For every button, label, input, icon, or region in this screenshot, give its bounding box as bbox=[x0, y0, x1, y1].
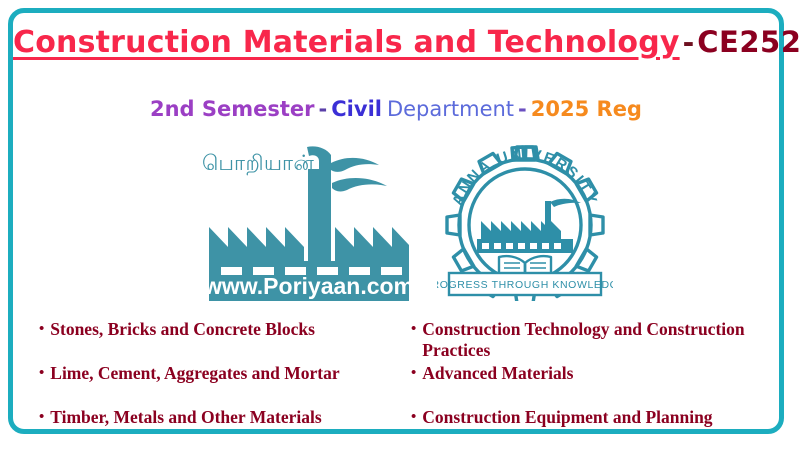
title-separator: - bbox=[680, 26, 698, 59]
unit-item: • Advanced Materials bbox=[411, 363, 573, 384]
course-title: Construction Materials and Technology bbox=[13, 25, 680, 60]
bullet-icon: • bbox=[39, 319, 44, 340]
bullet-icon: • bbox=[411, 407, 416, 428]
unit-label: Stones, Bricks and Concrete Blocks bbox=[50, 319, 315, 340]
unit-label: Lime, Cement, Aggregates and Mortar bbox=[50, 363, 339, 384]
anna-university-seal: ANNA UNIVERSITY bbox=[437, 143, 613, 301]
unit-label: Construction Equipment and Planning bbox=[422, 407, 712, 428]
unit-item: • Construction Equipment and Planning bbox=[411, 407, 713, 428]
seal-arc-text: ANNA UNIVERSITY bbox=[449, 146, 601, 208]
unit-label: Advanced Materials bbox=[422, 363, 573, 384]
seal-motto-text: PROGRESS THROUGH KNOWLEDGE bbox=[437, 279, 613, 291]
unit-item: • Timber, Metals and Other Materials bbox=[39, 407, 322, 428]
subtitle-dash-1: - bbox=[315, 97, 332, 121]
poster-card: Construction Materials and Technology-CE… bbox=[8, 8, 784, 434]
page-title: Construction Materials and Technology-CE… bbox=[13, 25, 779, 60]
unit-label: Timber, Metals and Other Materials bbox=[50, 407, 321, 428]
department-label: Department bbox=[382, 97, 514, 121]
unit-item: • Construction Technology and Constructi… bbox=[411, 319, 777, 361]
bullet-icon: • bbox=[411, 319, 416, 340]
course-code: CE25201 bbox=[697, 25, 800, 59]
subtitle: 2nd Semester-CivilDepartment-2025 Reg bbox=[13, 97, 779, 121]
subtitle-dash-2: - bbox=[514, 97, 531, 121]
semester-label: 2nd Semester bbox=[150, 97, 315, 121]
poriyaan-website-text: www.Poriyaan.com bbox=[203, 273, 414, 299]
bullet-icon: • bbox=[39, 407, 44, 428]
bullet-icon: • bbox=[411, 363, 416, 384]
unit-item: • Stones, Bricks and Concrete Blocks bbox=[39, 319, 315, 340]
unit-label: Construction Technology and Construction… bbox=[422, 319, 777, 361]
unit-item: • Lime, Cement, Aggregates and Mortar bbox=[39, 363, 340, 384]
regulation-label: 2025 Reg bbox=[531, 97, 642, 121]
bullet-icon: • bbox=[39, 363, 44, 384]
poriyaan-logo: www.Poriyaan.com பொறியான் bbox=[195, 139, 423, 303]
branch-label: Civil bbox=[331, 97, 382, 121]
logo-band: www.Poriyaan.com பொறியான் bbox=[13, 135, 779, 307]
poriyaan-tamil-text: பொறியான் bbox=[202, 152, 314, 178]
unit-list: • Stones, Bricks and Concrete Blocks • L… bbox=[13, 309, 779, 435]
anna-university-seal-icon: ANNA UNIVERSITY bbox=[437, 143, 613, 301]
